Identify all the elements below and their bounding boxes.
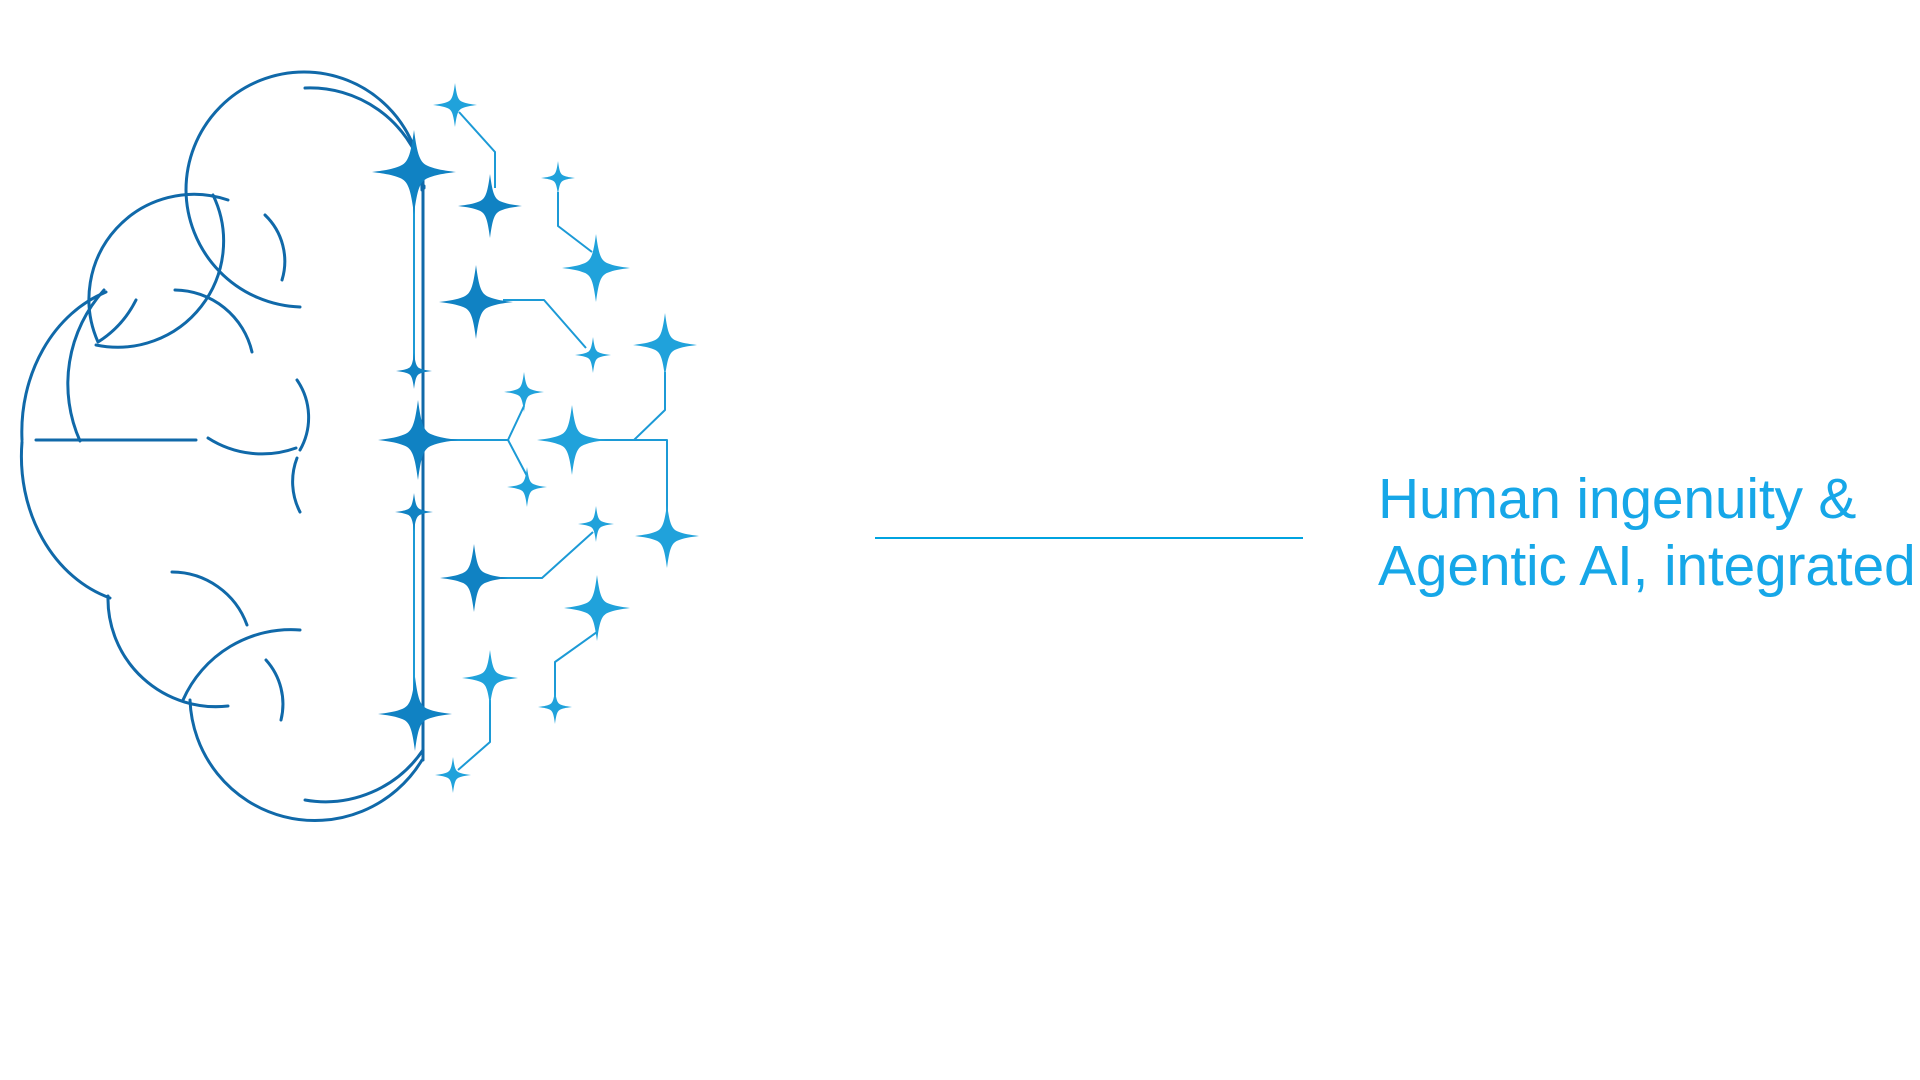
sparkle-star <box>504 372 544 412</box>
brain-lobe-top-right <box>186 72 422 307</box>
sparkle-star <box>635 504 699 568</box>
connector-s19-s22 <box>458 700 490 770</box>
sparkle-star <box>458 174 522 238</box>
sparkle-star <box>541 161 575 195</box>
sparkle-star <box>462 650 518 706</box>
brain-gyrus-3 <box>297 380 309 450</box>
brain-lobe-bottom-right <box>190 700 422 821</box>
brain-lobe-mid-left-arc <box>22 292 106 440</box>
brain-gyrus-6 <box>266 660 283 720</box>
connector-s1-s3 <box>459 112 495 188</box>
network-connectors <box>414 112 667 770</box>
sparkle-star <box>439 265 513 339</box>
brain-lobe-upper-left-b <box>96 195 224 347</box>
connector-s12-s15 <box>600 440 667 512</box>
brain-gyrus-1 <box>265 215 285 280</box>
sparkle-star <box>538 690 572 724</box>
connector-s11-s13 <box>508 440 527 476</box>
connector-s8-s12 <box>598 372 665 440</box>
sparkle-star <box>537 405 607 475</box>
sparkle-star <box>395 493 433 531</box>
sparkle-star <box>578 506 614 542</box>
page-headline: Human ingenuity & Agentic AI, integrated <box>1378 466 1898 599</box>
sparkle-star <box>507 467 547 507</box>
sparkle-star <box>633 313 697 377</box>
brain-gyrus-4 <box>293 458 300 512</box>
sparkle-star <box>440 544 508 612</box>
connector-s18-s15 <box>555 632 597 696</box>
sparkle-star <box>378 677 452 751</box>
headline-line-1: Human ingenuity & <box>1378 466 1898 533</box>
brain-gyrus-5 <box>172 572 247 625</box>
connector-s6-s7 <box>503 300 586 348</box>
connector-s17-s16 <box>501 532 593 578</box>
sparkle-star <box>562 234 630 302</box>
brain-lobe-lower-left-b <box>108 596 228 707</box>
brain-outline <box>21 72 424 821</box>
sparkle-star <box>433 83 477 127</box>
connector-s4-s5 <box>558 192 592 252</box>
connector-s11-s10 <box>444 406 524 440</box>
sparkle-star <box>378 400 458 480</box>
brain-spine-cap-bottom <box>305 750 423 802</box>
sparkle-star <box>564 575 630 641</box>
brain-lobe-upper-left <box>89 194 228 342</box>
illustration-canvas: Human ingenuity & Agentic AI, integrated <box>0 0 1920 1080</box>
sparkle-star <box>396 353 432 389</box>
sparkle-star <box>372 130 456 214</box>
brain-gyrus-7 <box>208 438 296 454</box>
brain-lobe-lower-left <box>21 442 110 598</box>
headline-line-2: Agentic AI, integrated <box>1378 533 1898 600</box>
